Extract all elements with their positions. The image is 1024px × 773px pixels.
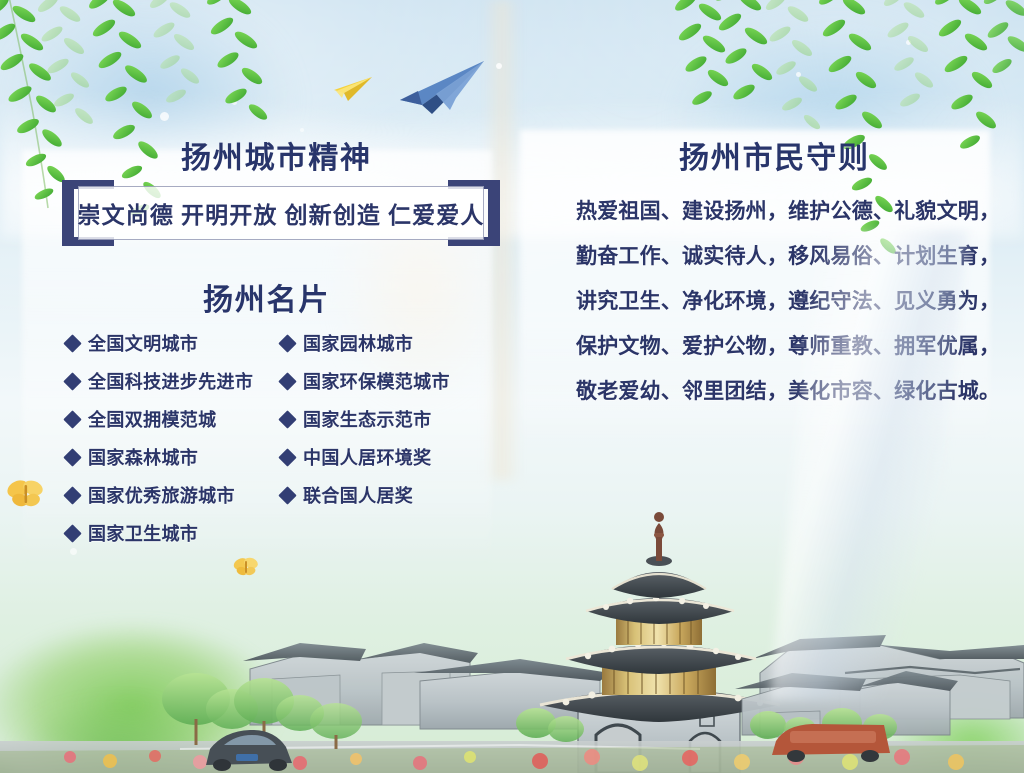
diamond-bullet-icon (63, 486, 81, 504)
diamond-bullet-icon (278, 334, 296, 352)
diamond-bullet-icon (63, 372, 81, 390)
list-item-label: 中国人居环境奖 (303, 444, 432, 470)
sparkle-dot (496, 63, 502, 69)
citizen-code-title: 扬州市民守则 (679, 133, 870, 177)
list-item: 中国人居环境奖 (281, 438, 496, 476)
list-item: 全国双拥模范城 (66, 400, 281, 438)
list-item-label: 全国文明城市 (88, 330, 198, 356)
diamond-bullet-icon (278, 448, 296, 466)
diamond-bullet-icon (278, 372, 296, 390)
list-item: 国家环保模范城市 (281, 362, 496, 400)
diamond-bullet-icon (63, 410, 81, 428)
butterfly-icon (233, 556, 259, 577)
city-card-title: 扬州名片 (203, 275, 330, 319)
city-spirit-banner: 崇文尚德 开明开放 创新创造 仁爱爱人 (62, 180, 500, 246)
sparkle-dot (906, 40, 911, 45)
diamond-bullet-icon (63, 334, 81, 352)
citizen-code-line: 热爱祖国、建设扬州，维护公德、礼貌文明， (576, 189, 976, 234)
poster-canvas: 扬州城市精神 崇文尚德 开明开放 创新创造 仁爱爱人 扬州名片 全国文明城市 全… (0, 0, 1024, 773)
list-item: 国家园林城市 (281, 324, 496, 362)
sparkle-dot (300, 128, 304, 132)
city-card-honor-list: 全国文明城市 全国科技进步先进市 全国双拥模范城 国家森林城市 国家优秀旅游城市… (66, 324, 496, 552)
list-item-label: 国家生态示范市 (303, 406, 432, 432)
diamond-bullet-icon (278, 410, 296, 428)
sparkle-dot (232, 100, 237, 105)
list-item: 国家卫生城市 (66, 514, 281, 552)
list-item-label: 国家园林城市 (303, 330, 413, 356)
list-item: 国家生态示范市 (281, 400, 496, 438)
sparkle-dot (160, 112, 169, 121)
diamond-bullet-icon (63, 524, 81, 542)
city-spirit-title: 扬州城市精神 (181, 133, 372, 177)
city-spirit-motto-box: 崇文尚德 开明开放 创新创造 仁爱爱人 (78, 186, 484, 240)
list-item-label: 联合国人居奖 (303, 482, 413, 508)
paper-plane-icon (392, 58, 488, 116)
list-item: 全国科技进步先进市 (66, 362, 281, 400)
list-item: 国家优秀旅游城市 (66, 476, 281, 514)
list-item: 国家森林城市 (66, 438, 281, 476)
list-item-label: 国家优秀旅游城市 (88, 482, 235, 508)
list-item: 联合国人居奖 (281, 476, 496, 514)
paper-plane-icon (328, 74, 374, 104)
list-item-label: 国家环保模范城市 (303, 368, 450, 394)
sparkle-dot (796, 72, 801, 77)
butterfly-icon (6, 478, 46, 510)
list-item-label: 全国科技进步先进市 (88, 368, 253, 394)
city-spirit-motto-text: 崇文尚德 开明开放 创新创造 仁爱爱人 (77, 196, 484, 230)
list-item-label: 全国双拥模范城 (88, 406, 217, 432)
diamond-bullet-icon (278, 486, 296, 504)
diamond-bullet-icon (63, 448, 81, 466)
list-item-label: 国家卫生城市 (88, 520, 198, 546)
list-item: 全国文明城市 (66, 324, 281, 362)
list-item-label: 国家森林城市 (88, 444, 198, 470)
